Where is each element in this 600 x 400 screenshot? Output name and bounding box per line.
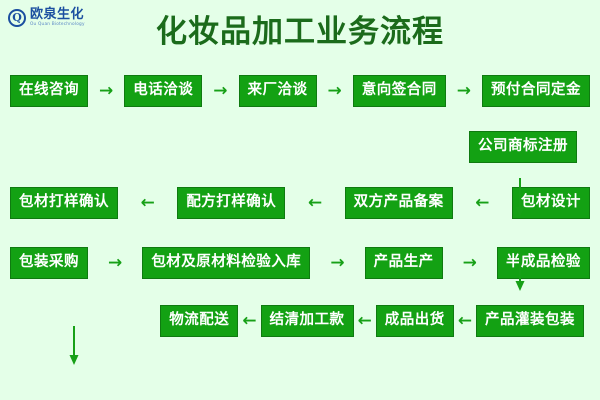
flow-node-trademark-registration[interactable]: 公司商标注册: [469, 131, 577, 163]
flow-node-packaging-purchase[interactable]: 包装采购: [10, 247, 88, 279]
connector-sample-confirm-to-purchase: [67, 326, 81, 366]
arrow-right-icon: →: [324, 83, 346, 100]
flow-row-2: 公司商标注册: [10, 130, 590, 164]
flow-node-semi-finished-inspection[interactable]: 半成品检验: [497, 247, 590, 279]
arrow-right-icon: →: [104, 255, 126, 272]
flow-node-product-filing[interactable]: 双方产品备案: [345, 187, 453, 219]
flow-row-4: 包装采购 → 包材及原材料检验入库 → 产品生产 → 半成品检验: [10, 246, 590, 280]
flow-row-5: 物流配送 ← 结清加工款 ← 成品出货 ← 产品灌装包装: [10, 304, 590, 338]
flow-node-filling-packaging[interactable]: 产品灌装包装: [476, 305, 584, 337]
arrow-left-icon: ←: [454, 313, 476, 330]
flow-row-3: 包材打样确认 ← 配方打样确认 ← 双方产品备案 ← 包材设计: [10, 186, 590, 220]
flow-node-phone-negotiation[interactable]: 电话洽谈: [124, 75, 202, 107]
arrow-right-icon: →: [459, 255, 481, 272]
flow-node-formula-sample-confirm[interactable]: 配方打样确认: [177, 187, 285, 219]
page-header: Q 欧泉生化 Ou Quan Biotechnology 化妆品加工业务流程: [0, 0, 600, 58]
connector-trademark-to-package-design: [513, 254, 527, 292]
arrow-right-icon: →: [95, 83, 117, 100]
flow-row-1: 在线咨询 → 电话洽谈 → 来厂洽谈 → 意向签合同 → 预付合同定金: [10, 74, 590, 108]
flow-node-logistics-delivery[interactable]: 物流配送: [160, 305, 238, 337]
flow-node-finished-shipment[interactable]: 成品出货: [376, 305, 454, 337]
arrow-left-icon: ←: [137, 195, 159, 212]
connector-prepay-to-trademark: [513, 178, 527, 218]
page-title: 化妆品加工业务流程: [0, 6, 600, 51]
arrow-left-icon: ←: [304, 195, 326, 212]
flow-node-prepay-deposit[interactable]: 预付合同定金: [482, 75, 590, 107]
arrow-left-icon: ←: [354, 313, 376, 330]
flow-node-intent-contract[interactable]: 意向签合同: [353, 75, 446, 107]
flow-node-production[interactable]: 产品生产: [365, 247, 443, 279]
arrow-left-icon: ←: [238, 313, 260, 330]
flow-node-material-inspection-storage[interactable]: 包材及原材料检验入库: [142, 247, 310, 279]
flowchart: 在线咨询 → 电话洽谈 → 来厂洽谈 → 意向签合同 → 预付合同定金 公司商标…: [0, 74, 600, 338]
flow-node-package-sample-confirm[interactable]: 包材打样确认: [10, 187, 118, 219]
flow-node-factory-visit[interactable]: 来厂洽谈: [239, 75, 317, 107]
arrow-right-icon: →: [453, 83, 475, 100]
arrow-right-icon: →: [326, 255, 348, 272]
flow-node-online-consult[interactable]: 在线咨询: [10, 75, 88, 107]
arrow-left-icon: ←: [471, 195, 493, 212]
flow-node-settle-payment[interactable]: 结清加工款: [261, 305, 354, 337]
arrow-right-icon: →: [209, 83, 231, 100]
